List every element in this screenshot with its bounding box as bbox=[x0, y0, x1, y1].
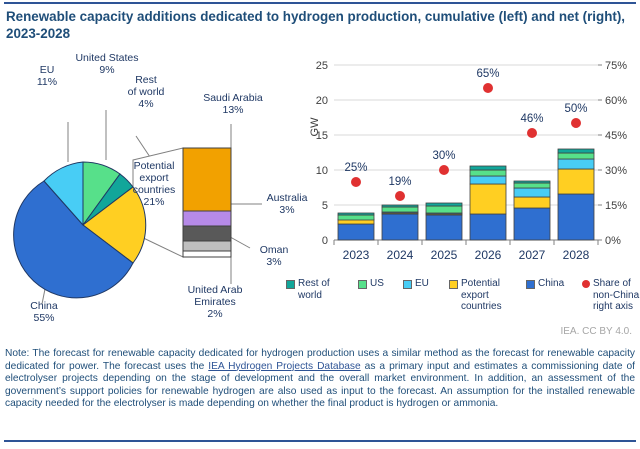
bar-group-2025 bbox=[426, 203, 462, 240]
pie-label-pec-name: Potentialexportcountries bbox=[133, 160, 176, 196]
scatter-point-2026 bbox=[483, 83, 493, 93]
legend-label-china: China bbox=[538, 278, 564, 290]
pie-label-china-value: 55% bbox=[33, 312, 54, 324]
bar-segment-us-2027 bbox=[514, 183, 550, 188]
x-tick-2026: 2026 bbox=[475, 248, 502, 262]
x-tick-2027: 2027 bbox=[519, 248, 546, 262]
scatter-label-2026: 65% bbox=[476, 68, 499, 80]
pie-label-us-name: United States bbox=[75, 52, 138, 64]
breakout-segment-australia bbox=[183, 211, 231, 226]
x-tick-2024: 2024 bbox=[387, 248, 414, 262]
bar-group-2028 bbox=[558, 149, 594, 240]
bar-segment-potential-export-2026 bbox=[470, 184, 506, 214]
breakout-segment-oman bbox=[183, 226, 231, 241]
bar-group-2026 bbox=[470, 166, 506, 240]
svg-text:15%: 15% bbox=[605, 200, 627, 212]
bar-segment-china-2023 bbox=[338, 224, 374, 240]
bar-segment-us-2024 bbox=[382, 207, 418, 212]
pie-label-potential-export-countries: Potentialexportcountries 21% bbox=[126, 160, 182, 208]
pie-label-china-name: China bbox=[30, 300, 57, 312]
y-axis-ticks-left: 25 20 15 10 5 0 bbox=[316, 60, 328, 247]
x-axis-tick-labels: 2023 2024 2025 2026 2027 2028 bbox=[343, 248, 590, 262]
pie-label-us-value: 9% bbox=[99, 64, 114, 76]
page-title: Renewable capacity additions dedicated t… bbox=[6, 8, 632, 42]
bar-segment-rest-of-world-2023 bbox=[338, 213, 374, 215]
bar-segment-china-2027 bbox=[514, 208, 550, 240]
bar-chart-svg: GW 25 20 15 10 5 0 75% 60% 45% 30% 15% 0… bbox=[300, 52, 640, 314]
legend-item-eu[interactable]: EU bbox=[403, 278, 439, 290]
pie-label-saudi-arabia: Saudi Arabia 13% bbox=[190, 92, 276, 116]
breakout-segment-saudi-arabia bbox=[183, 148, 231, 211]
svg-text:0: 0 bbox=[322, 235, 328, 247]
legend-label-share-of-non-china: Share ofnon-China (%)right axis bbox=[593, 278, 640, 313]
x-axis-tickmarks bbox=[334, 240, 598, 245]
chart-legend: Rest of world US EU Potentialexportcount… bbox=[286, 278, 640, 318]
pie-label-uae: United ArabEmirates 2% bbox=[180, 284, 250, 320]
pie-label-united-states: United States 9% bbox=[57, 52, 157, 76]
scatter-label-2025: 30% bbox=[432, 150, 455, 162]
pie-label-eu-name: EU bbox=[40, 64, 55, 76]
breakout-segment-uae bbox=[183, 241, 231, 251]
bar-segment-rest-of-world-2025 bbox=[426, 203, 462, 206]
bottom-divider bbox=[4, 440, 636, 442]
bar-segment-rest-of-world-2028 bbox=[558, 149, 594, 153]
bar-segment-rest-of-world-2024 bbox=[382, 205, 418, 207]
bar-group-2024 bbox=[382, 205, 418, 240]
right-axis-tickmarks bbox=[598, 65, 602, 240]
top-divider bbox=[4, 2, 636, 4]
pie-label-saudi-name: Saudi Arabia bbox=[203, 92, 263, 104]
bar-segment-eu-2027 bbox=[514, 188, 550, 197]
bar-segment-china-2024 bbox=[382, 214, 418, 240]
pie-label-oman-value: 3% bbox=[266, 256, 281, 268]
bar-segment-china-2028 bbox=[558, 194, 594, 240]
pie-label-uae-name: United ArabEmirates bbox=[188, 284, 243, 308]
x-tick-2025: 2025 bbox=[431, 248, 458, 262]
bar-chart-panel: GW 25 20 15 10 5 0 75% 60% 45% 30% 15% 0… bbox=[300, 52, 640, 314]
scatter-point-2028 bbox=[571, 118, 581, 128]
pie-label-saudi-value: 13% bbox=[222, 104, 243, 116]
bar-segment-rest-of-world-2026 bbox=[470, 166, 506, 170]
svg-text:20: 20 bbox=[316, 95, 328, 107]
scatter-point-2027 bbox=[527, 128, 537, 138]
legend-swatch-us bbox=[358, 280, 367, 289]
x-tick-2028: 2028 bbox=[563, 248, 590, 262]
legend-swatch-china bbox=[526, 280, 535, 289]
legend-swatch-potential-export-countries bbox=[449, 280, 458, 289]
svg-text:25: 25 bbox=[316, 60, 328, 72]
iea-hydrogen-projects-database-link[interactable]: IEA Hydrogen Projects Database bbox=[208, 361, 360, 372]
legend-item-us[interactable]: US bbox=[358, 278, 392, 290]
bar-segment-eu-2028 bbox=[558, 159, 594, 169]
svg-text:75%: 75% bbox=[605, 60, 627, 72]
pie-label-row-value: 4% bbox=[138, 98, 153, 110]
legend-item-rest-of-world[interactable]: Rest of world bbox=[286, 278, 338, 301]
pie-label-pec-value: 21% bbox=[143, 196, 164, 208]
scatter-label-2024: 19% bbox=[388, 176, 411, 188]
pie-label-oman: Oman 3% bbox=[246, 244, 302, 268]
bar-segment-eu-2026 bbox=[470, 176, 506, 184]
scatter-point-2025 bbox=[439, 165, 449, 175]
legend-label-eu: EU bbox=[415, 278, 429, 290]
scatter-point-2023 bbox=[351, 177, 361, 187]
pie-label-china: China 55% bbox=[16, 300, 72, 324]
pie-label-australia-value: 3% bbox=[279, 204, 294, 216]
legend-label-potential-export-countries: Potentialexportcountries bbox=[461, 278, 502, 313]
svg-text:5: 5 bbox=[322, 200, 328, 212]
pie-chart-panel: EU 11% United States 9% Restof world 4% … bbox=[0, 52, 300, 310]
breakout-segment-filler bbox=[183, 251, 231, 257]
bar-segment-us-2025 bbox=[426, 206, 462, 213]
legend-label-rest-of-world: Rest of world bbox=[298, 278, 338, 301]
bar-segment-potential-export-2028 bbox=[558, 169, 594, 194]
scatter-label-2027: 46% bbox=[520, 113, 543, 125]
footnote: Note: The forecast for renewable capacit… bbox=[5, 348, 635, 411]
scatter-label-2023: 25% bbox=[344, 162, 367, 174]
bar-segment-china-2025 bbox=[426, 215, 462, 240]
x-tick-2023: 2023 bbox=[343, 248, 370, 262]
legend-swatch-eu bbox=[403, 280, 412, 289]
svg-text:0%: 0% bbox=[605, 235, 621, 247]
pie-label-rest-of-world: Restof world 4% bbox=[117, 74, 175, 110]
pie-label-row-name: Restof world bbox=[128, 74, 165, 98]
bar-group-2023 bbox=[338, 213, 374, 240]
legend-item-share-of-non-china[interactable]: Share ofnon-China (%)right axis bbox=[582, 278, 640, 313]
bar-segment-rest-of-world-2027 bbox=[514, 181, 550, 183]
bar-segment-us-2026 bbox=[470, 170, 506, 176]
scatter-label-2028: 50% bbox=[564, 103, 587, 115]
breakout-stacked-bar bbox=[183, 148, 231, 257]
scatter-point-2024 bbox=[395, 191, 405, 201]
pie-label-uae-value: 2% bbox=[207, 308, 222, 320]
pie-label-oman-name: Oman bbox=[260, 244, 289, 256]
svg-text:30%: 30% bbox=[605, 165, 627, 177]
license-credit: IEA. CC BY 4.0. bbox=[560, 326, 632, 337]
bar-group-2027 bbox=[514, 181, 550, 240]
y-axis-ticks-right: 75% 60% 45% 30% 15% 0% bbox=[605, 60, 627, 247]
bar-segment-china-2026 bbox=[470, 214, 506, 240]
bar-segment-us-2028 bbox=[558, 153, 594, 159]
pie-label-eu-value: 11% bbox=[37, 76, 57, 88]
legend-item-potential-export-countries[interactable]: Potentialexportcountries bbox=[449, 278, 513, 313]
legend-swatch-rest-of-world bbox=[286, 280, 295, 289]
legend-item-china[interactable]: China bbox=[526, 278, 574, 290]
svg-text:10: 10 bbox=[316, 165, 328, 177]
svg-text:45%: 45% bbox=[605, 130, 627, 142]
legend-marker-share-of-non-china bbox=[582, 280, 590, 288]
svg-text:60%: 60% bbox=[605, 95, 627, 107]
bar-segment-potential-export-2027 bbox=[514, 197, 550, 208]
svg-text:15: 15 bbox=[316, 130, 328, 142]
legend-label-us: US bbox=[370, 278, 384, 290]
bar-segment-us-2023 bbox=[338, 215, 374, 220]
